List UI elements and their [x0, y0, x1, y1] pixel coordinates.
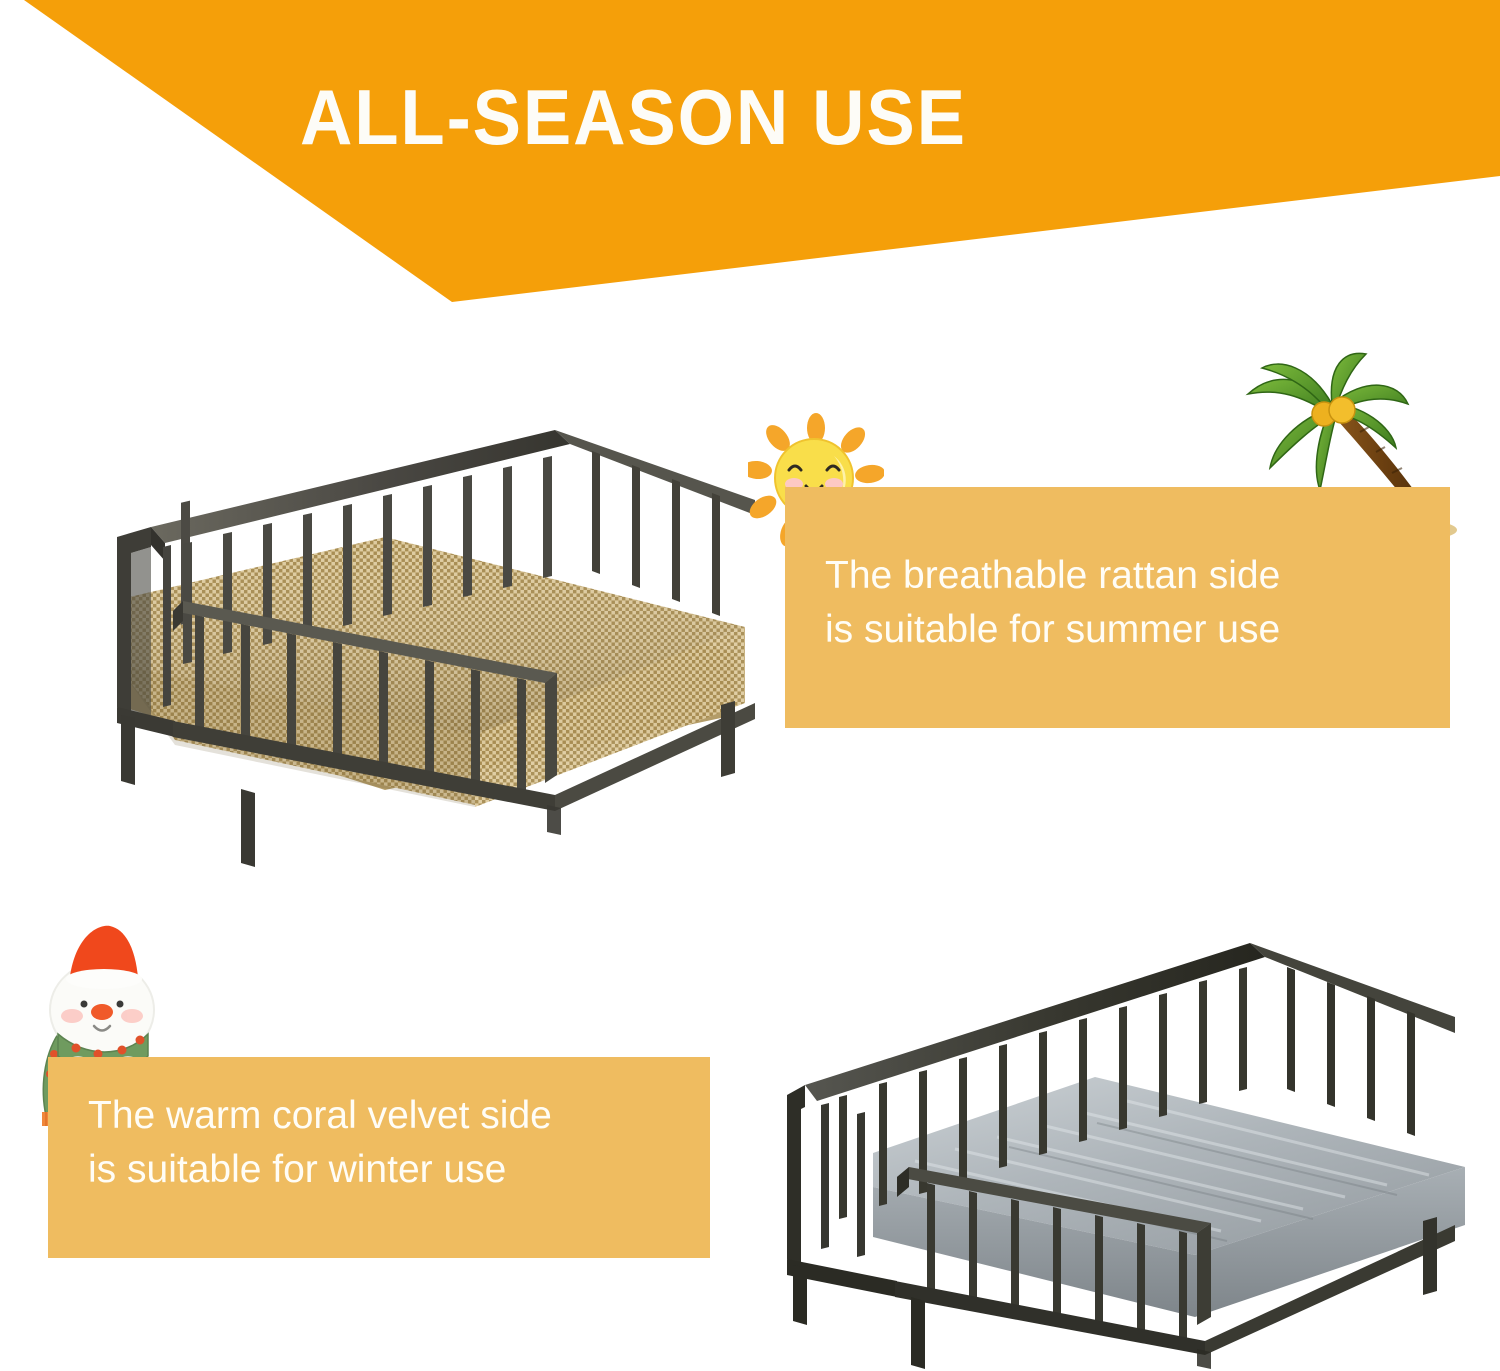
- snowman-nose: [91, 1004, 113, 1020]
- callout-summer-text: The breathable rattan side is suitable f…: [825, 549, 1280, 657]
- product-image-rattan-bed: [55, 415, 780, 870]
- callout-winter-text: The warm coral velvet side is suitable f…: [88, 1089, 552, 1197]
- callout-summer: The breathable rattan side is suitable f…: [785, 487, 1450, 728]
- page-title: ALL-SEASON USE: [300, 72, 967, 163]
- callout-winter: The warm coral velvet side is suitable f…: [48, 1057, 710, 1258]
- hat-brim: [66, 969, 142, 989]
- product-image-velvet-bed: [765, 925, 1495, 1370]
- infographic-canvas: ALL-SEASON USE: [0, 0, 1500, 1371]
- header-banner: ALL-SEASON USE: [0, 0, 1500, 310]
